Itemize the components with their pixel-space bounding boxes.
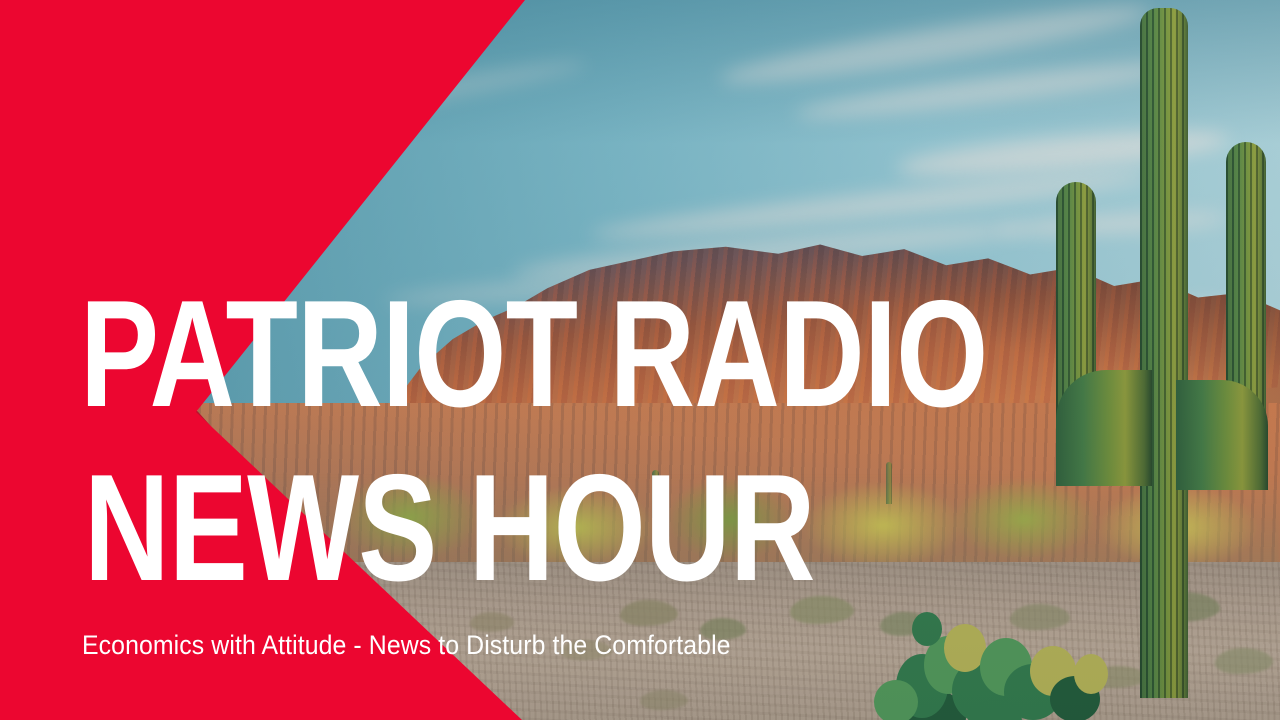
show-tagline: Economics with Attitude - News to Distur… bbox=[82, 630, 731, 661]
show-title-line-1: PATRIOT RADIO bbox=[80, 278, 988, 430]
video-title-card: PATRIOT RADIO NEWS HOUR Economics with A… bbox=[0, 0, 1280, 720]
show-title-line-2: NEWS HOUR bbox=[84, 452, 815, 604]
title-block: PATRIOT RADIO NEWS HOUR Economics with A… bbox=[0, 0, 1280, 720]
